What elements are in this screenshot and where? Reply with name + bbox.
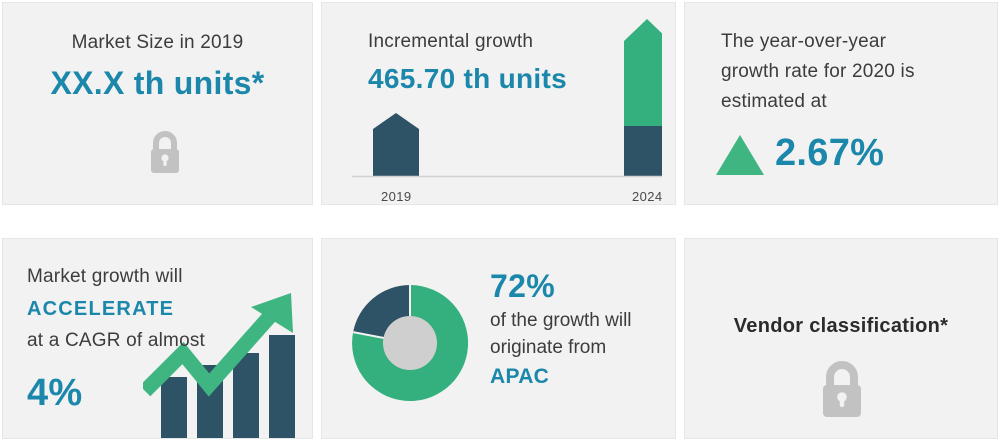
market-size-value: XX.X th units* [3, 65, 312, 102]
yoy-growth-description: The year-over-year growth rate for 2020 … [721, 27, 915, 117]
apac-share-value: 72% [490, 265, 632, 307]
cagr-description: Market growth will ACCELERATE at a CAGR … [27, 261, 205, 357]
card-incremental-growth: Incremental growth 465.70 th units 2019 … [321, 2, 676, 205]
yoy-line-2: growth rate for 2020 is [721, 57, 915, 87]
infographic-board: Market Size in 2019 XX.X th units* [0, 0, 1000, 441]
triangle-up-icon [714, 133, 766, 182]
lock-icon [814, 357, 870, 426]
cagr-accelerate-label: ACCELERATE [27, 293, 205, 325]
card-yoy-growth: The year-over-year growth rate for 2020 … [684, 2, 998, 205]
lock-icon [144, 128, 186, 181]
yoy-line-3: estimated at [721, 87, 915, 117]
cagr-line-3: at a CAGR of almost [27, 325, 205, 357]
apac-line-2: originate from [490, 334, 632, 361]
card-market-size: Market Size in 2019 XX.X th units* [2, 2, 313, 205]
card-apac-share: 72% of the growth will originate from AP… [321, 238, 676, 439]
apac-line-1: of the growth will [490, 307, 632, 334]
card-cagr: Market growth will ACCELERATE at a CAGR … [2, 238, 313, 439]
incremental-growth-value: 465.70 th units [368, 63, 567, 95]
market-size-title: Market Size in 2019 [3, 30, 312, 56]
cagr-value: 4% [27, 371, 83, 415]
apac-region-label: APAC [490, 361, 632, 393]
cagr-line-1: Market growth will [27, 261, 205, 293]
incremental-growth-title: Incremental growth [368, 29, 533, 55]
yoy-growth-value: 2.67% [775, 131, 884, 175]
apac-share-donut-chart [350, 283, 470, 408]
apac-share-description: 72% of the growth will originate from AP… [490, 265, 632, 393]
vendor-classification-title: Vendor classification* [685, 315, 997, 338]
card-vendor-classification: Vendor classification* [684, 238, 998, 439]
yoy-line-1: The year-over-year [721, 27, 915, 57]
